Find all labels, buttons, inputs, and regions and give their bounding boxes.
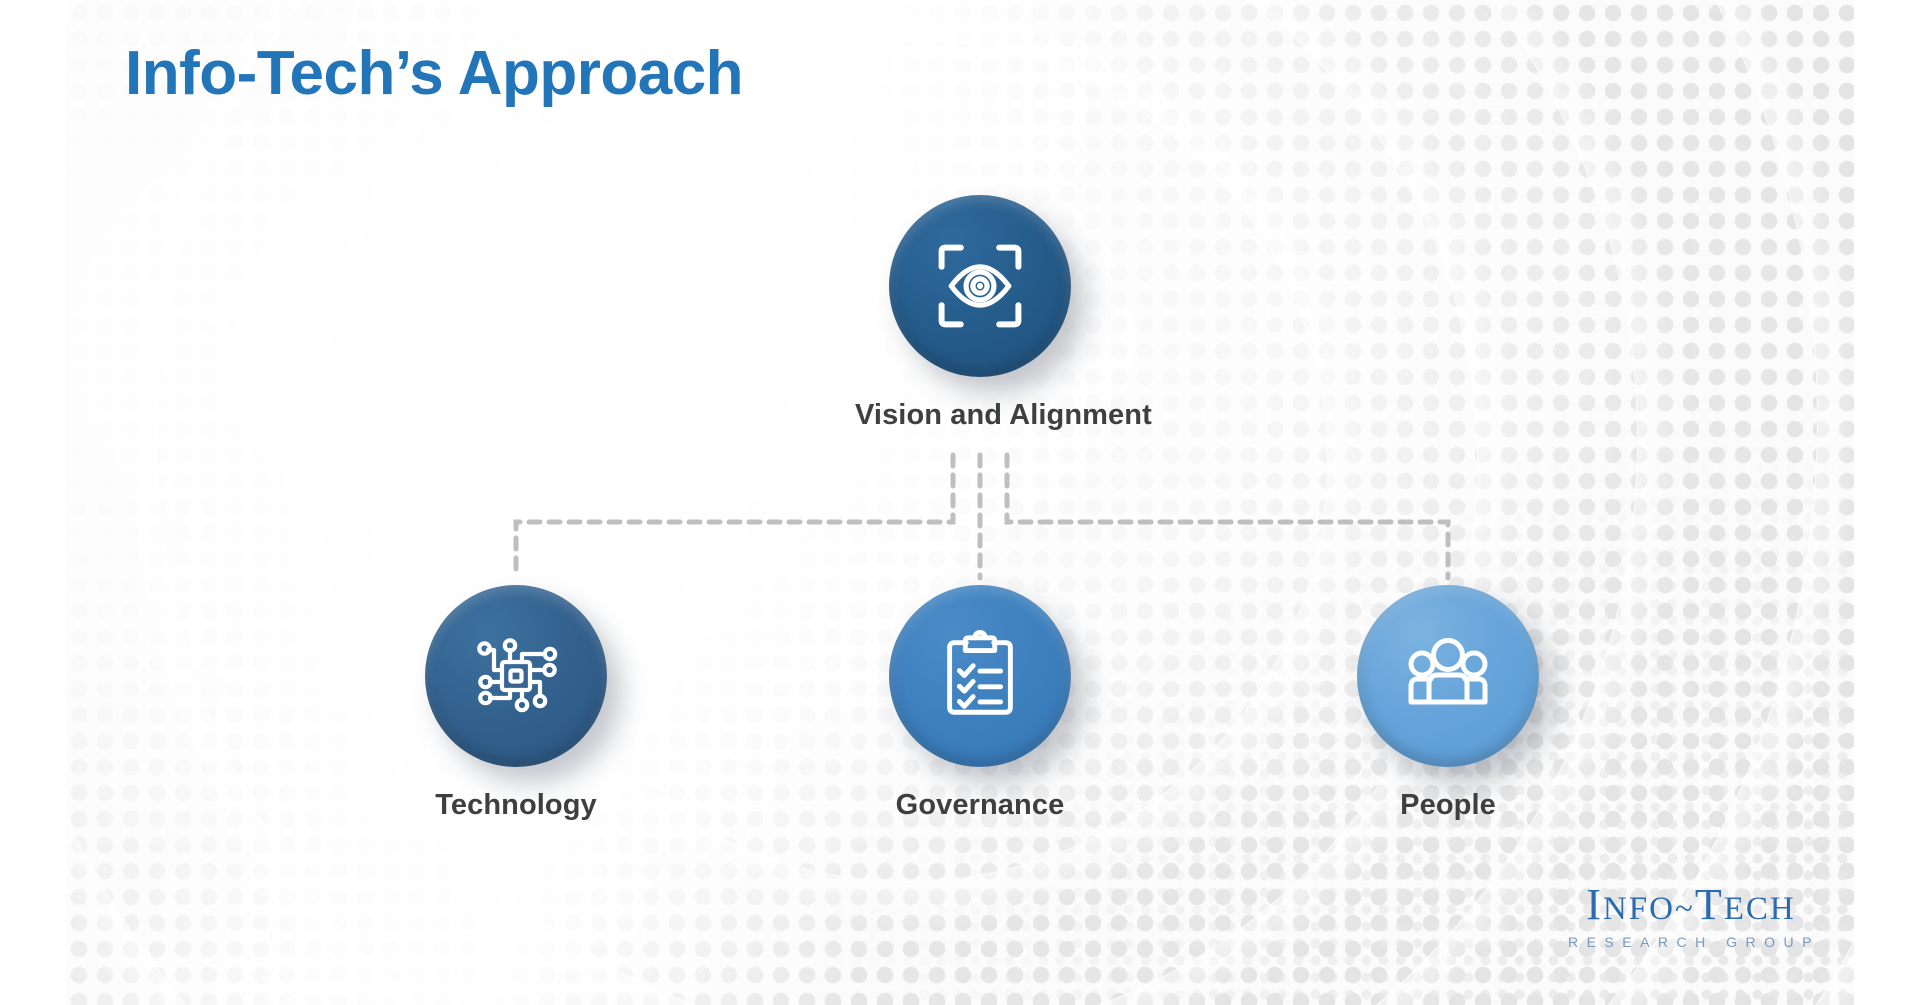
node-governance-circle[interactable] bbox=[889, 585, 1071, 767]
eye-scan-icon bbox=[932, 238, 1028, 334]
slide-root: Info-Tech’s Approach bbox=[0, 0, 1920, 1005]
logo-letter-t: T bbox=[1695, 880, 1724, 929]
node-governance-label: Governance bbox=[855, 789, 1105, 822]
node-technology[interactable]: Technology bbox=[391, 585, 641, 822]
node-people-circle[interactable] bbox=[1357, 585, 1539, 767]
concentric-arc-decoration bbox=[66, 0, 1854, 1005]
logo-letters-nfo: NFO bbox=[1603, 891, 1675, 927]
logo-wordmark: INFO~TECH bbox=[1562, 883, 1820, 927]
logo-tagline: RESEARCH GROUP bbox=[1562, 934, 1820, 950]
arc-5 bbox=[66, 0, 1854, 1005]
node-technology-circle[interactable] bbox=[425, 585, 607, 767]
node-vision-circle[interactable] bbox=[889, 195, 1071, 377]
node-governance[interactable]: Governance bbox=[855, 585, 1105, 822]
slide-canvas bbox=[66, 0, 1854, 1005]
node-people[interactable]: People bbox=[1323, 585, 1573, 822]
node-technology-label: Technology bbox=[391, 789, 641, 822]
node-technology-circle-wrap bbox=[425, 585, 607, 767]
node-vision-label: Vision and Alignment bbox=[855, 399, 1105, 432]
node-vision-circle-wrap bbox=[889, 195, 1071, 377]
node-vision[interactable]: Vision and Alignment bbox=[855, 195, 1105, 432]
clipboard-checklist-icon bbox=[931, 627, 1029, 725]
node-governance-circle-wrap bbox=[889, 585, 1071, 767]
logo-tilde: ~ bbox=[1675, 891, 1695, 927]
people-group-icon bbox=[1398, 626, 1498, 726]
logo-letters-ech: ECH bbox=[1724, 891, 1796, 927]
node-people-label: People bbox=[1323, 789, 1573, 822]
info-tech-logo: INFO~TECH RESEARCH GROUP bbox=[1562, 883, 1820, 950]
circuit-chip-icon bbox=[466, 626, 566, 726]
node-people-circle-wrap bbox=[1357, 585, 1539, 767]
logo-letter-i: I bbox=[1586, 880, 1603, 929]
page-title: Info-Tech’s Approach bbox=[125, 38, 743, 109]
